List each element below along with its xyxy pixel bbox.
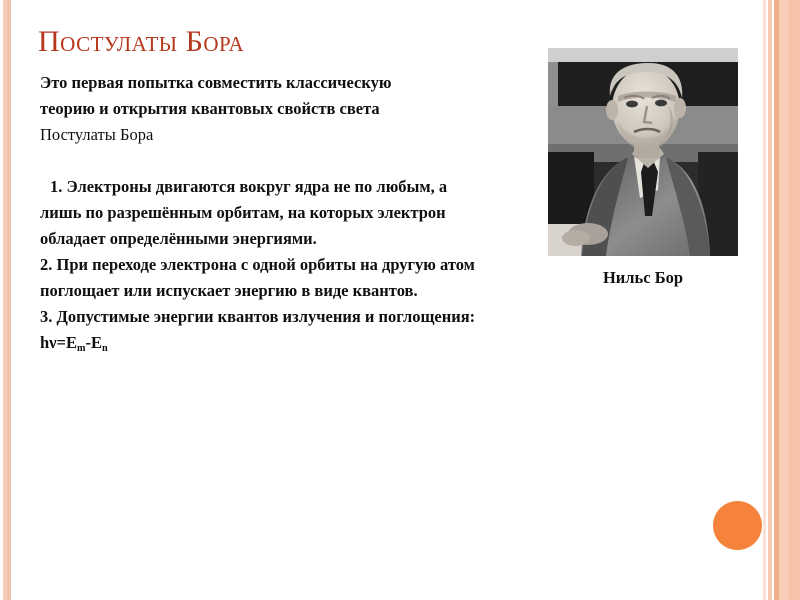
intro-line-3: Постулаты Бора bbox=[40, 122, 490, 148]
paragraph-gap bbox=[40, 148, 490, 174]
formula-lead: hν=E bbox=[40, 333, 77, 352]
orange-circle-decoration bbox=[713, 501, 762, 550]
right-stripe-5 bbox=[789, 0, 800, 600]
bohr-frequency-formula: hν=Em-En bbox=[40, 333, 108, 352]
slide: Постулаты Бора Это первая попытка совмес… bbox=[0, 0, 800, 600]
niels-bohr-photo bbox=[548, 48, 738, 256]
postulate-item-1: 1. Электроны двигаются вокруг ядра не по… bbox=[40, 174, 490, 252]
postulate-item-3-text: 3. Допустимые энергии квантов излучения … bbox=[40, 307, 475, 326]
right-stripe-4 bbox=[779, 0, 789, 600]
slide-body: Это первая попытка совместить классическ… bbox=[40, 70, 490, 356]
niels-bohr-portrait bbox=[548, 48, 738, 256]
intro-line-2: теорию и открытия квантовых свойств свет… bbox=[40, 96, 490, 122]
right-stripe-2 bbox=[768, 0, 772, 600]
formula-mid: -E bbox=[85, 333, 102, 352]
postulate-item-3: 3. Допустимые энергии квантов излучения … bbox=[40, 304, 490, 356]
portrait-caption: Нильс Бор bbox=[548, 268, 738, 288]
left-stripe-inner bbox=[7, 0, 11, 600]
intro-line-1: Это первая попытка совместить классическ… bbox=[40, 70, 490, 96]
formula-subscript-n: n bbox=[102, 343, 108, 354]
right-stripe-1 bbox=[763, 0, 766, 600]
slide-title: Постулаты Бора bbox=[38, 26, 244, 58]
postulate-item-2: 2. При переходе электрона с одной орбиты… bbox=[40, 252, 490, 304]
